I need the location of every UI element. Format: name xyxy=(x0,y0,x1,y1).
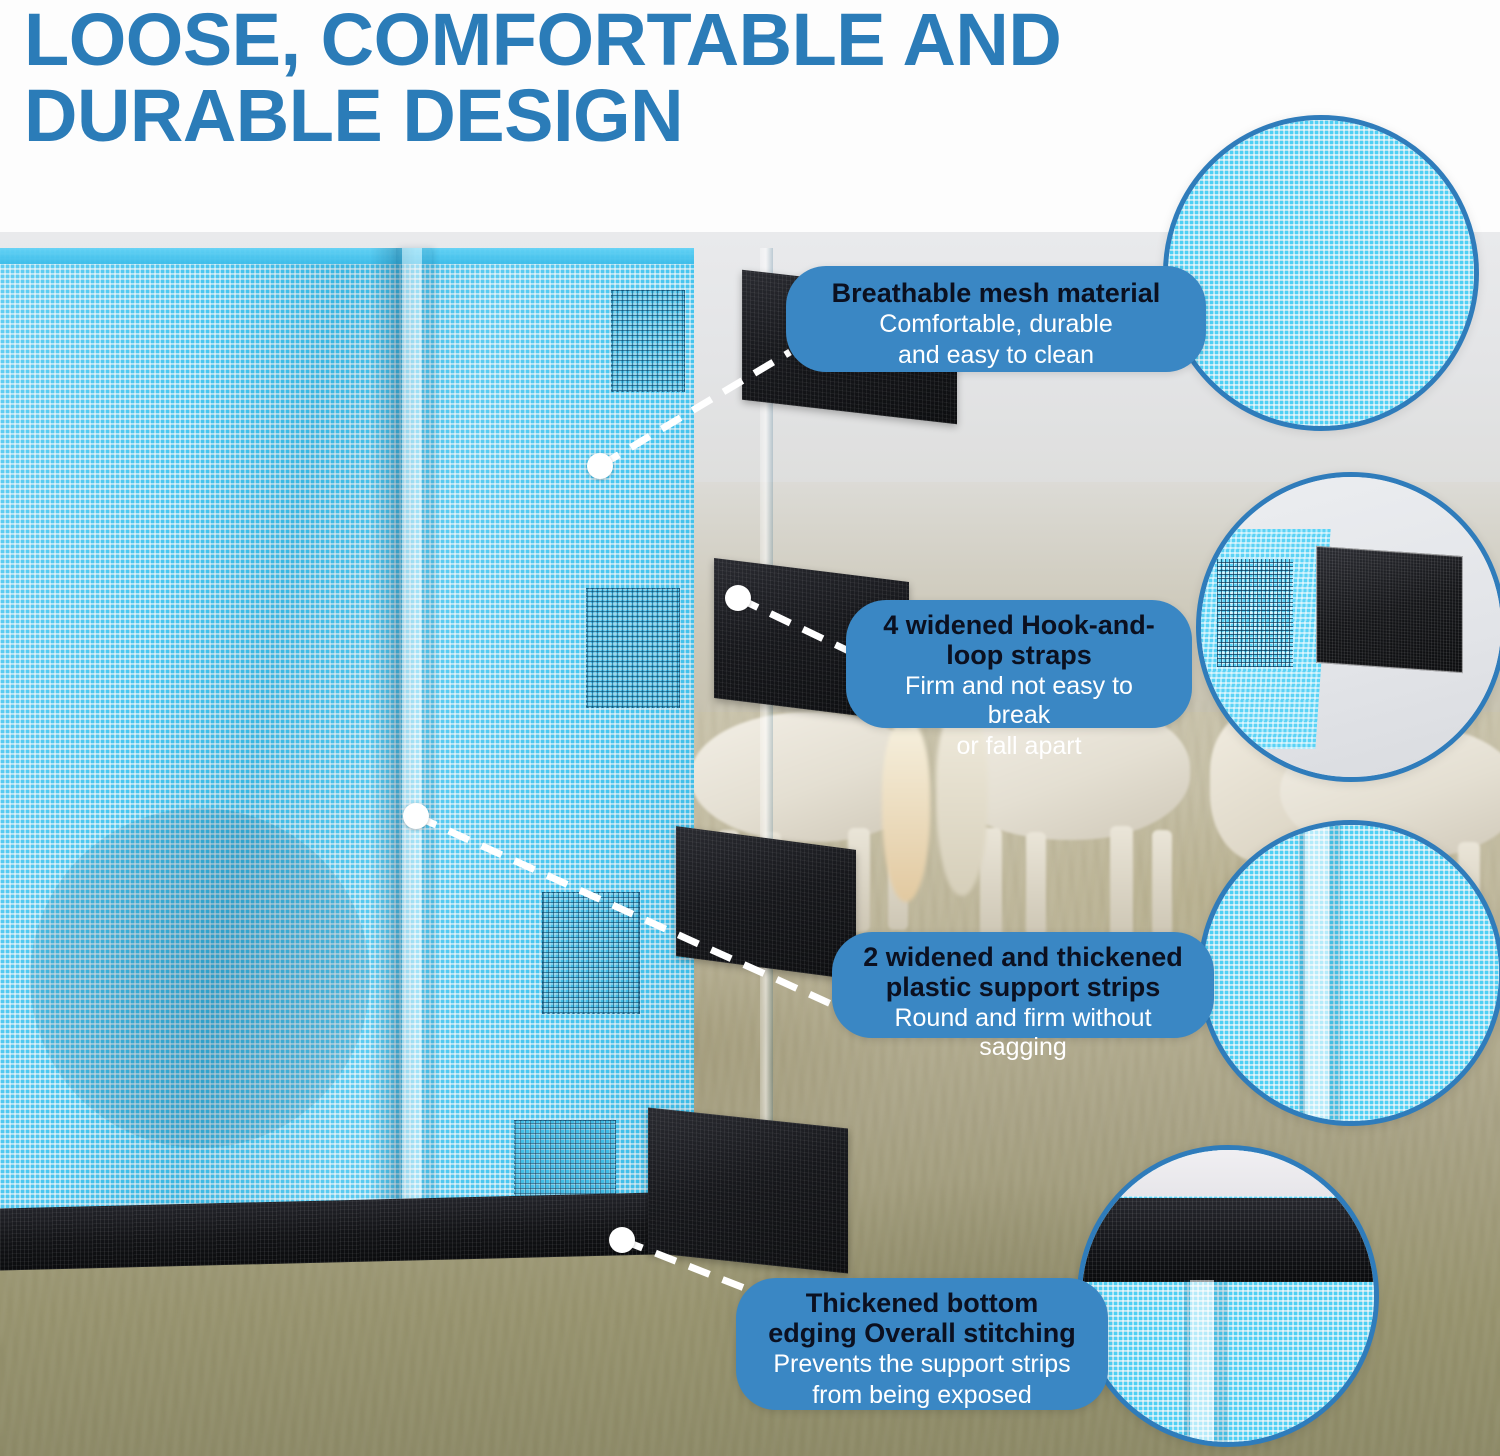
connector-dot-3 xyxy=(403,803,429,829)
infographic-canvas: LOOSE, COMFORTABLE AND DURABLE DESIGN Br… xyxy=(0,0,1500,1456)
callout-subtitle-line-1: Comfortable, durable xyxy=(816,310,1176,339)
strap-attachment-patch xyxy=(611,290,685,392)
callout-subtitle-line-1: Prevents the support strips xyxy=(766,1350,1078,1379)
callout-subtitle-line-1: Firm and not easy to break xyxy=(876,672,1162,730)
top-hem xyxy=(0,248,694,264)
connector-dot-4 xyxy=(609,1227,635,1253)
detail-circle-mesh-fabric xyxy=(1163,115,1479,431)
hook-and-loop-strap xyxy=(648,1107,848,1273)
mesh-highlight-circle xyxy=(30,808,370,1148)
callout-title-line-2: edging Overall stitching xyxy=(766,1318,1078,1348)
callout-title-line-1: 4 widened Hook-and- xyxy=(876,610,1162,640)
callout-subtitle-line-2: or fall apart xyxy=(876,732,1162,761)
page-title: LOOSE, COMFORTABLE AND DURABLE DESIGN xyxy=(24,2,1364,154)
callout-breathable-mesh[interactable]: Breathable mesh material Comfortable, du… xyxy=(786,266,1206,372)
mesh-fabric-closeup xyxy=(1168,120,1474,426)
detail-circle-support-strip xyxy=(1198,820,1500,1126)
bottom-edging-closeup xyxy=(1077,1198,1379,1282)
support-strip-closeup xyxy=(1299,820,1341,1126)
callout-title-line-1: 2 widened and thickened xyxy=(862,942,1184,972)
stitched-patch xyxy=(1217,559,1293,667)
callout-title-line-2: plastic support strips xyxy=(862,972,1184,1002)
velcro-strap-closeup xyxy=(1316,546,1463,673)
callout-hook-and-loop-straps[interactable]: 4 widened Hook-and- loop straps Firm and… xyxy=(846,600,1192,728)
callout-subtitle-line-2: and easy to clean xyxy=(816,341,1176,370)
callout-thickened-bottom-edging[interactable]: Thickened bottom edging Overall stitchin… xyxy=(736,1278,1108,1410)
callout-subtitle-line-1: Round and firm without sagging xyxy=(862,1004,1184,1062)
title-line-1: LOOSE, COMFORTABLE AND xyxy=(24,2,1364,78)
callout-title: Breathable mesh material xyxy=(816,278,1176,308)
strap-attachment-patch xyxy=(586,588,680,708)
callout-title-line-1: Thickened bottom xyxy=(766,1288,1078,1318)
background-sliver xyxy=(1077,1145,1379,1196)
product-fly-sheet xyxy=(0,248,694,1240)
connector-dot-2 xyxy=(725,585,751,611)
hook-and-loop-strap xyxy=(676,826,856,980)
plastic-support-strip xyxy=(396,248,432,1240)
detail-circle-bottom-edging xyxy=(1077,1145,1379,1447)
detail-circle-hook-and-loop xyxy=(1196,472,1500,782)
callout-plastic-support-strips[interactable]: 2 widened and thickened plastic support … xyxy=(832,932,1214,1038)
connector-dot-1 xyxy=(587,453,613,479)
strap-attachment-patch xyxy=(542,892,640,1014)
callout-subtitle-line-2: from being exposed xyxy=(766,1381,1078,1410)
mesh-fabric-closeup xyxy=(1203,825,1499,1121)
callout-title-line-2: loop straps xyxy=(876,640,1162,670)
title-line-2: DURABLE DESIGN xyxy=(24,78,1364,154)
support-strip-under-edging xyxy=(1184,1280,1228,1447)
